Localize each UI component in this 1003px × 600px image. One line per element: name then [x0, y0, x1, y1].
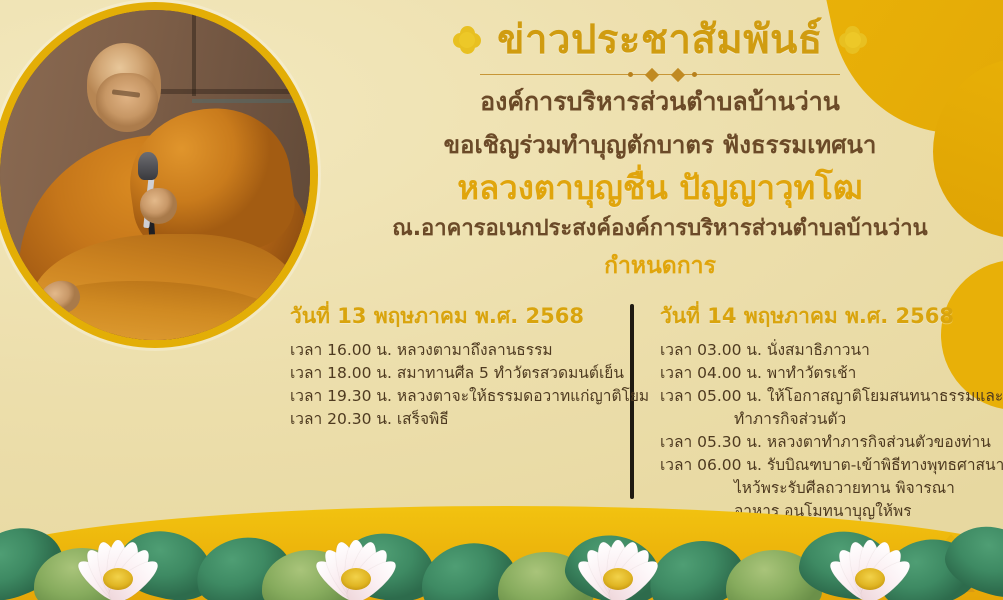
- lotus-flower: [810, 510, 930, 600]
- monk-name-heading: หลวงตาบุญชื่น ปัญญาวุทโฒ: [330, 167, 990, 208]
- day2-heading: วันที่ 14 พฤษภาคม พ.ศ. 2568: [660, 300, 1000, 333]
- lotus-flower: [58, 510, 178, 600]
- schedule-item: เวลา 19.30 น. หลวงตาจะให้ธรรมดอวาทแก่ญาต…: [290, 385, 630, 408]
- schedule-item: เวลา 04.00 น. พาทำวัตรเช้า: [660, 362, 1000, 385]
- lotus-flower: [296, 510, 416, 600]
- schedule-section: วันที่ 13 พฤษภาคม พ.ศ. 2568 เวลา 16.00 น…: [255, 300, 1003, 515]
- schedule-item: เวลา 06.00 น. รับบิณฑบาต-เข้าพิธีทางพุทธ…: [660, 454, 1000, 477]
- agenda-label: กำหนดการ: [330, 248, 990, 284]
- schedule-item: เวลา 16.00 น. หลวงตามาถึงลานธรรม: [290, 339, 630, 362]
- wall-seam-horizontal-2: [192, 99, 310, 103]
- invitation-line: ขอเชิญร่วมทำบุญตักบาตร ฟังธรรมเทศนา: [330, 129, 990, 161]
- title-divider-ornament: [480, 69, 840, 81]
- header-block: ข่าวประชาสัมพันธ์ องค์การบริหารส่วนตำบลบ…: [330, 18, 990, 284]
- schedule-item: เวลา 03.00 น. นั่งสมาธิภาวนา: [660, 339, 1000, 362]
- monk-face: [96, 73, 158, 132]
- day1-heading: วันที่ 13 พฤษภาคม พ.ศ. 2568: [290, 300, 630, 333]
- monk-portrait-photo: [0, 2, 318, 348]
- bottom-decoration-band: [0, 485, 1003, 600]
- schedule-column-day2: วันที่ 14 พฤษภาคม พ.ศ. 2568 เวลา 03.00 น…: [640, 300, 1000, 515]
- monk-hand-holding-mic: [140, 188, 177, 224]
- quatrefoil-ornament-right-icon: [839, 26, 867, 54]
- schedule-item: เวลา 05.30 น. หลวงตาทำภารกิจส่วนตัวของท่…: [660, 431, 1000, 454]
- poster-canvas: ข่าวประชาสัมพันธ์ องค์การบริหารส่วนตำบลบ…: [0, 0, 1003, 600]
- schedule-item: เวลา 20.30 น. เสร็จพิธี: [290, 408, 630, 431]
- quatrefoil-ornament-left-icon: [453, 26, 481, 54]
- schedule-item: เวลา 05.00 น. ให้โอกาสญาติโยมสนทนาธรรมแล…: [660, 385, 1000, 408]
- title-row: ข่าวประชาสัมพันธ์: [330, 18, 990, 63]
- lotus-flower: [558, 510, 678, 600]
- microphone-icon: [138, 152, 158, 180]
- schedule-column-day1: วันที่ 13 พฤษภาคม พ.ศ. 2568 เวลา 16.00 น…: [255, 300, 630, 515]
- schedule-item: เวลา 18.00 น. สมาทานศีล 5 ทำวัตรสวดมนต์เ…: [290, 362, 630, 385]
- schedule-item-continuation: ทำภารกิจส่วนตัว: [660, 408, 1000, 431]
- venue-line: ณ.อาคารอเนกประสงค์องค์การบริหารส่วนตำบลบ…: [330, 214, 990, 244]
- page-title: ข่าวประชาสัมพันธ์: [497, 18, 823, 63]
- organization-name: องค์การบริหารส่วนตำบลบ้านว่าน: [330, 85, 990, 119]
- wall-seam-vertical: [192, 10, 196, 96]
- wall-seam-horizontal: [143, 89, 310, 94]
